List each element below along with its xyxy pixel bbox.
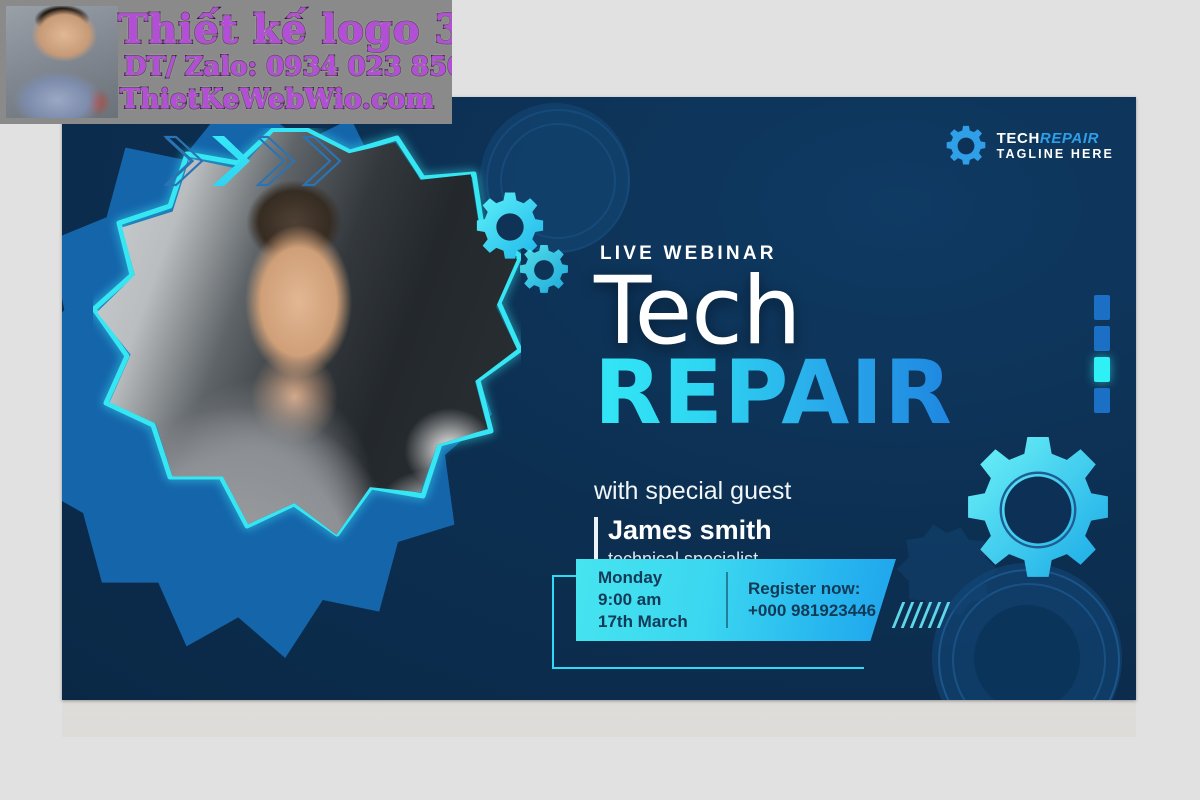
- chevron-arrow-group: [162, 133, 344, 189]
- guest-prefix-label: with special guest: [594, 477, 791, 506]
- chevron-right-icon-active: [208, 133, 252, 189]
- event-info-box[interactable]: Monday 9:00 am 17th March Register now: …: [576, 559, 896, 641]
- guest-name-label: James smith: [608, 515, 772, 546]
- event-time: 9:00 am: [598, 589, 726, 611]
- event-schedule: Monday 9:00 am 17th March: [576, 567, 726, 632]
- page-title-line2: REPAIR: [594, 349, 953, 437]
- registration-block: Register now: +000 981923446: [728, 578, 876, 623]
- watermark-line-2: DT/ Zalo: 0934 023 850: [124, 52, 452, 82]
- chevron-right-icon-outline: [162, 133, 206, 189]
- banner-text-content: LIVE WEBINAR Tech REPAIR with special gu…: [532, 97, 1136, 700]
- watermark-avatar: [6, 6, 118, 118]
- register-phone[interactable]: +000 981923446: [748, 600, 876, 622]
- watermark-line-1: Thiết kế logo 300k: [118, 6, 452, 53]
- chevron-right-icon-outline-2: [254, 133, 298, 189]
- technician-photo: [97, 132, 517, 662]
- banner-artwork: TECHREPAIR TAGLINE HERE LIVE WEBINAR Tec…: [62, 97, 1136, 700]
- event-date: 17th March: [598, 611, 726, 633]
- chevron-right-icon-outline-3: [300, 133, 344, 189]
- watermark-line-3: ThietKeWebWio.com: [120, 84, 434, 115]
- watermark-overlay: Thiết kế logo 300k DT/ Zalo: 0934 023 85…: [0, 0, 452, 124]
- register-cta-label[interactable]: Register now:: [748, 578, 876, 600]
- event-day: Monday: [598, 567, 726, 589]
